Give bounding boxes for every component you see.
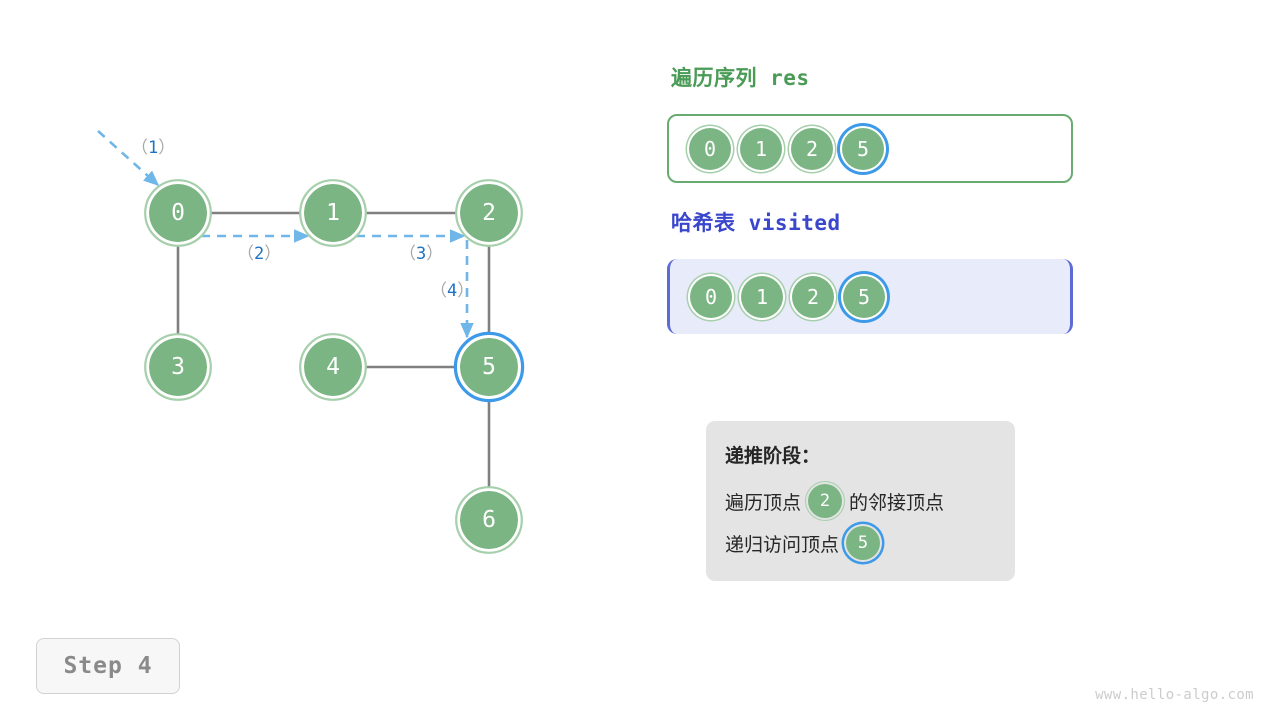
visited-item-3[interactable]: 5 — [843, 276, 885, 318]
phase-line-1-vertex: 2 — [808, 484, 842, 518]
watermark: www.hello-algo.com — [1095, 687, 1254, 703]
visited-item-2[interactable]: 2 — [792, 276, 834, 318]
graph-node-6-label: 6 — [482, 507, 496, 533]
traversal-label-1: （1） — [131, 138, 175, 158]
graph-node-3-label: 3 — [171, 354, 185, 380]
step-badge-label: Step 4 — [63, 653, 152, 679]
res-item-1-label: 1 — [755, 137, 767, 161]
res-item-3-label: 5 — [857, 137, 869, 161]
graph-diagram: （1） （2） （3） （4） 0 1 — [0, 0, 640, 620]
res-item-2-label: 2 — [806, 137, 818, 161]
visited-item-1-label: 1 — [756, 285, 768, 309]
res-item-0[interactable]: 0 — [689, 128, 731, 170]
graph-node-4[interactable]: 4 — [300, 334, 366, 400]
phase-line-1-suffix: 的邻接顶点 — [849, 488, 944, 515]
graph-node-1[interactable]: 1 — [300, 180, 366, 246]
graph-node-0-label: 0 — [171, 200, 185, 226]
visited-item-1[interactable]: 1 — [741, 276, 783, 318]
traversal-label-2: （2） — [237, 244, 281, 264]
phase-line-2: 递归访问顶点 5 — [725, 526, 1015, 560]
res-container: 0 1 2 5 — [667, 114, 1073, 183]
graph-node-4-label: 4 — [326, 354, 340, 380]
traversal-label-3: （3） — [399, 244, 443, 264]
visited-item-0-label: 0 — [705, 285, 717, 309]
graph-vertices: 0 1 2 3 — [145, 180, 522, 553]
visited-item-0[interactable]: 0 — [690, 276, 732, 318]
res-heading: 遍历序列 res — [671, 62, 810, 92]
phase-line-1-prefix: 遍历顶点 — [725, 488, 801, 515]
graph-node-2-label: 2 — [482, 200, 496, 226]
res-item-3[interactable]: 5 — [842, 128, 884, 170]
visited-item-3-label: 5 — [858, 285, 870, 309]
graph-node-0[interactable]: 0 — [145, 180, 211, 246]
phase-info-panel: 递推阶段： 遍历顶点 2 的邻接顶点 递归访问顶点 5 — [706, 421, 1015, 581]
graph-node-2[interactable]: 2 — [456, 180, 522, 246]
graph-node-6[interactable]: 6 — [456, 487, 522, 553]
graph-node-3[interactable]: 3 — [145, 334, 211, 400]
phase-line-2-prefix: 递归访问顶点 — [725, 530, 839, 557]
visited-heading: 哈希表 visited — [671, 207, 841, 237]
phase-title: 递推阶段： — [725, 441, 1015, 468]
phase-line-1: 遍历顶点 2 的邻接顶点 — [725, 484, 1015, 518]
phase-line-1-vertex-label: 2 — [820, 491, 830, 511]
step-badge: Step 4 — [36, 638, 180, 694]
traversal-label-4: （4） — [430, 281, 474, 301]
phase-line-2-vertex: 5 — [846, 526, 880, 560]
graph-node-5-label: 5 — [482, 354, 496, 380]
res-item-0-label: 0 — [704, 137, 716, 161]
visited-item-2-label: 2 — [807, 285, 819, 309]
res-item-2[interactable]: 2 — [791, 128, 833, 170]
phase-line-2-vertex-label: 5 — [858, 533, 868, 553]
graph-node-5[interactable]: 5 — [455, 333, 522, 400]
graph-node-1-label: 1 — [326, 200, 340, 226]
figure-canvas: （1） （2） （3） （4） 0 1 — [0, 0, 1280, 720]
res-item-1[interactable]: 1 — [740, 128, 782, 170]
visited-container: 0 1 2 5 — [667, 259, 1073, 334]
